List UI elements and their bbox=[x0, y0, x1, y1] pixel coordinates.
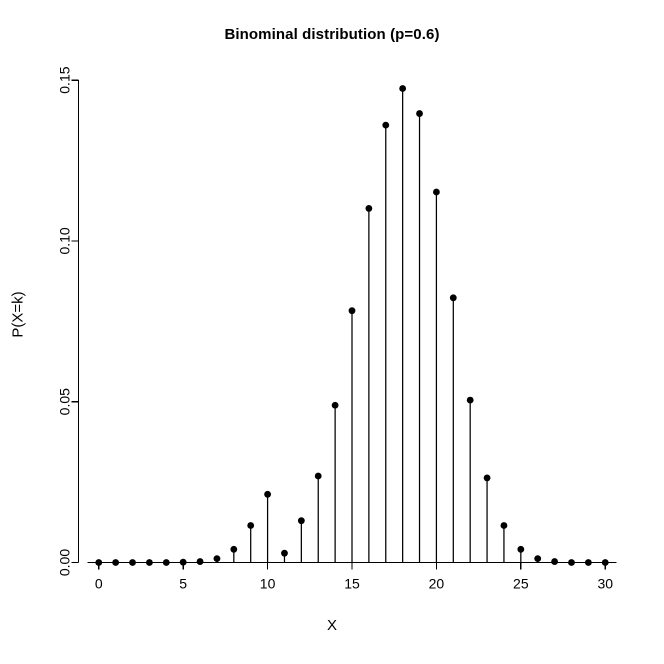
data-point bbox=[382, 122, 389, 129]
data-point bbox=[399, 85, 406, 92]
data-point bbox=[349, 307, 356, 314]
plot-area: 051015202530 0.000.050.100.15 bbox=[0, 0, 664, 664]
data-point bbox=[332, 402, 339, 409]
data-point bbox=[365, 205, 372, 212]
data-point bbox=[551, 558, 558, 565]
data-point bbox=[501, 522, 508, 529]
data-point bbox=[433, 189, 440, 196]
y-tick-label: 0.05 bbox=[57, 388, 73, 415]
data-point bbox=[467, 397, 474, 404]
binomial-distribution-figure: Binominal distribution (p=0.6) P(X=k) X … bbox=[0, 0, 664, 664]
data-point bbox=[315, 473, 322, 480]
y-tick-label: 0.15 bbox=[57, 66, 73, 93]
data-point bbox=[534, 555, 541, 562]
x-tick-label: 0 bbox=[95, 576, 103, 592]
y-tick-label: 0.00 bbox=[57, 549, 73, 576]
x-tick-label: 15 bbox=[344, 576, 360, 592]
stems-group bbox=[217, 88, 538, 562]
data-point bbox=[247, 522, 254, 529]
data-point bbox=[281, 550, 288, 557]
data-point bbox=[298, 517, 305, 524]
data-point bbox=[517, 546, 524, 553]
x-tick-label: 10 bbox=[260, 576, 276, 592]
y-tick-label: 0.10 bbox=[57, 227, 73, 254]
x-tick-label: 30 bbox=[597, 576, 613, 592]
y-axis: 0.000.050.100.15 bbox=[57, 66, 79, 576]
data-point bbox=[416, 110, 423, 117]
data-point bbox=[197, 558, 204, 565]
x-tick-label: 20 bbox=[429, 576, 445, 592]
x-axis: 051015202530 bbox=[87, 563, 616, 592]
data-point bbox=[214, 555, 221, 562]
x-tick-label: 5 bbox=[179, 576, 187, 592]
data-point bbox=[450, 294, 457, 301]
x-tick-label: 25 bbox=[513, 576, 529, 592]
data-point bbox=[484, 475, 491, 482]
data-point bbox=[264, 491, 271, 498]
data-point bbox=[230, 546, 237, 553]
